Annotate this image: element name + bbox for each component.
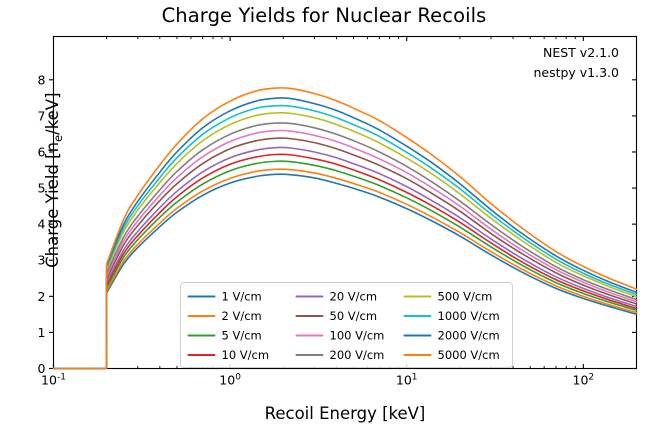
legend-label[interactable]: 5 V/cm [222,329,262,343]
legend-label[interactable]: 50 V/cm [330,309,378,323]
legend-label[interactable]: 1 V/cm [222,290,262,304]
y-tick-label: 0 [38,361,46,376]
y-tick-label: 7 [38,108,46,123]
legend-label[interactable]: 5000 V/cm [438,348,500,362]
legend-label[interactable]: 100 V/cm [330,329,385,343]
legend-label[interactable]: 2 V/cm [222,309,262,323]
y-tick-label: 2 [38,289,46,304]
x-tick-label: 102 [573,373,595,388]
annotation-text: NEST v2.1.0 [543,45,619,60]
y-tick-label: 3 [38,253,46,268]
y-tick-label: 4 [38,217,46,232]
chart-legend[interactable]: 1 V/cm2 V/cm5 V/cm10 V/cm20 V/cm50 V/cm1… [181,283,513,368]
legend-label[interactable]: 2000 V/cm [438,329,500,343]
legend-label[interactable]: 500 V/cm [438,290,493,304]
y-tick-label: 1 [38,325,46,340]
legend-label[interactable]: 10 V/cm [222,348,270,362]
chart-figure: Charge Yields for Nuclear Recoils Charge… [0,0,648,432]
x-tick-label: 100 [219,373,241,388]
annotation-text: nestpy v1.3.0 [533,65,619,80]
annotation-group: NEST v2.1.0nestpy v1.3.0 [533,45,619,80]
x-tick-label: 101 [396,373,418,388]
legend-label[interactable]: 200 V/cm [330,348,385,362]
legend-label[interactable]: 1000 V/cm [438,309,500,323]
y-tick-label: 6 [38,144,46,159]
legend-label[interactable]: 20 V/cm [330,290,378,304]
y-tick-label: 8 [38,72,46,87]
plot-area: 10-1100101102 012345678 NEST v2.1.0nestp… [0,0,648,432]
y-tick-label: 5 [38,181,46,196]
